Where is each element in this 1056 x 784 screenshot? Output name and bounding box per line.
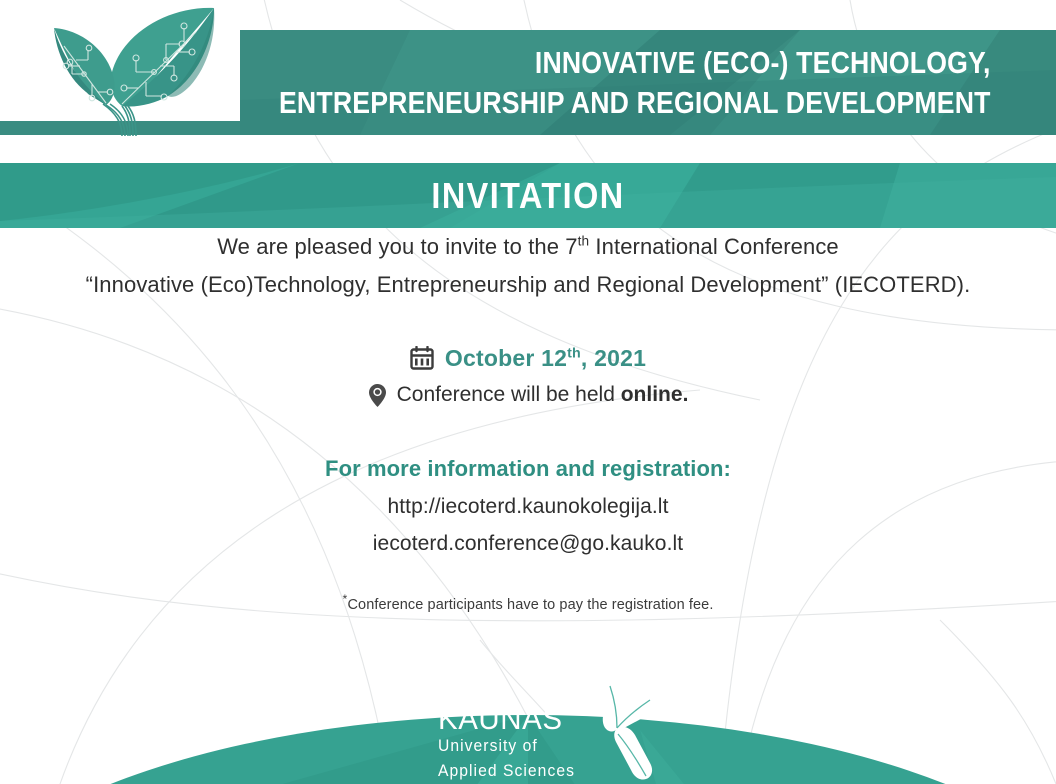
place-row: Conference will be held online.: [0, 383, 1056, 408]
date-prefix: October 12: [445, 345, 567, 371]
kaunas-k-mark: [588, 676, 658, 781]
calendar-icon: [410, 346, 434, 371]
date-row: October 12th, 2021: [0, 345, 1056, 372]
invitation-label: INVITATION: [53, 163, 1003, 228]
header-title-line2: ENTREPRENEURSHIP AND REGIONAL DEVELOPMEN…: [279, 83, 991, 123]
intro-ordinal-number: 7: [565, 234, 577, 259]
kaunas-org-sub-line1: University of: [438, 736, 575, 757]
invitation-poster: INNOVATIVE (ECO-) TECHNOLOGY, ENTREPRENE…: [0, 0, 1056, 784]
place-emphasis: online.: [621, 383, 689, 406]
eco-tech-leaf-logo: [18, 0, 233, 136]
date-ordinal-suffix: th: [567, 345, 581, 361]
kaunas-org-name: KAUNAS: [438, 704, 575, 733]
kaunas-university-logo: KAUNAS University of Applied Sciences: [438, 704, 658, 782]
intro-line-1: We are pleased you to invite to the 7th …: [0, 228, 1056, 266]
registration-title: For more information and registration:: [0, 456, 1056, 482]
intro-suffix: International Conference: [589, 234, 839, 259]
invitation-banner: INVITATION: [0, 163, 1056, 228]
body-content: We are pleased you to invite to the 7th …: [0, 228, 1056, 612]
place-text-prefix: Conference will be held: [397, 383, 621, 406]
place-text: Conference will be held online.: [397, 383, 689, 407]
conference-date: October 12th, 2021: [445, 345, 646, 372]
kaunas-org-sub-line2: Applied Sciences: [438, 761, 575, 782]
footnote-text: Conference participants have to pay the …: [347, 596, 713, 612]
registration-website[interactable]: http://iecoterd.kaunokolegija.lt: [0, 495, 1056, 519]
intro-prefix: We are pleased you to invite to the: [217, 234, 565, 259]
header-band: INNOVATIVE (ECO-) TECHNOLOGY, ENTREPRENE…: [240, 30, 1056, 135]
intro-ordinal-suffix: th: [578, 234, 590, 249]
intro-paragraph: We are pleased you to invite to the 7th …: [0, 228, 1056, 305]
kaunas-wordmark: KAUNAS University of Applied Sciences: [438, 704, 582, 782]
footnote: *Conference participants have to pay the…: [0, 592, 1056, 613]
date-suffix: , 2021: [581, 345, 646, 371]
header-title: INNOVATIVE (ECO-) TECHNOLOGY, ENTREPRENE…: [354, 30, 1056, 135]
intro-line-2: “Innovative (Eco)Technology, Entrepreneu…: [0, 266, 1056, 304]
registration-email[interactable]: iecoterd.conference@go.kauko.lt: [0, 532, 1056, 556]
header-title-line1: INNOVATIVE (ECO-) TECHNOLOGY,: [535, 43, 991, 83]
location-pin-icon: [368, 383, 387, 408]
